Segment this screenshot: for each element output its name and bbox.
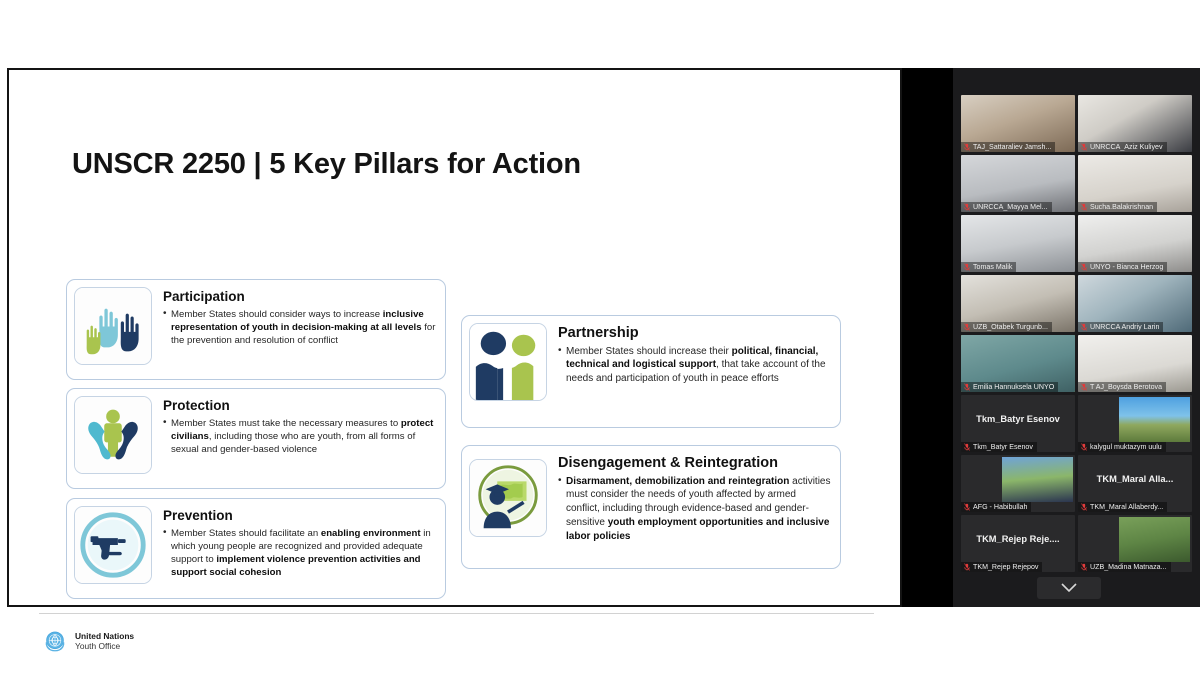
participant-name-label: T AJ_Boysda Berotova [1078,382,1166,392]
participant-name-text: TKM_Maral Allaberdy... [1090,503,1163,511]
participant-tile[interactable]: AFG - Habibullah [961,455,1075,512]
microphone-muted-icon [1081,383,1087,391]
participant-tile[interactable]: T AJ_Boysda Berotova [1078,335,1192,392]
participant-tile[interactable]: Tomas Malik [961,215,1075,272]
un-youth-office-logo: United Nations Youth Office [42,628,134,654]
pillar-text: Member States should increase their poli… [558,345,831,386]
participant-name-label: UZB_Otabek Turgunb... [961,322,1052,332]
zoom-meeting-window: UNSCR 2250 | 5 Key Pillars for Action [0,0,1200,695]
chevron-down-icon [1061,583,1077,593]
participant-name-text: UNRCCA Andriy Larin [1090,323,1159,331]
pillar-text: Member States should facilitate an enabl… [163,527,436,580]
participant-name-label: TKM_Rejep Rejepov [961,562,1042,572]
participant-tile[interactable]: kalygul muktazym uulu [1078,395,1192,452]
presentation-slide: UNSCR 2250 | 5 Key Pillars for Action [9,70,900,605]
microphone-muted-icon [1081,143,1087,151]
protecting-hands-icon [74,396,152,474]
participant-name-text: Tkm_Batyr Esenov [973,443,1033,451]
participant-name-text: T AJ_Boysda Berotova [1090,383,1162,391]
participant-name-text: UZB_Otabek Turgunb... [973,323,1048,331]
pillar-heading: Partnership [558,325,831,342]
un-emblem-icon [42,628,68,654]
microphone-muted-icon [1081,203,1087,211]
participant-name-label: Tkm_Batyr Esenov [961,442,1037,452]
participant-name-text: UNRCCA_Aziz Kuliyev [1090,143,1163,151]
participant-name-text: UZB_Madina Matnaza... [1090,563,1167,571]
microphone-muted-icon [964,203,970,211]
participant-name-label: Tomas Malik [961,262,1016,272]
microphone-muted-icon [1081,443,1087,451]
participant-name-text: Tomas Malik [973,263,1012,271]
two-figures-icon [469,323,547,401]
pillar-heading: Participation [163,289,436,305]
participant-name-label: UNYO - Bianca Herzog [1078,262,1167,272]
raised-hands-icon [74,287,152,365]
participant-gallery[interactable]: TAJ_Sattaraliev Jamsh...UNRCCA_Aziz Kuli… [953,68,1200,607]
microphone-muted-icon [964,563,970,571]
microphone-muted-icon [964,443,970,451]
participant-name-label: Emilia Hannuksela UNYO [961,382,1058,392]
participant-tile[interactable]: UNRCCA Andriy Larin [1078,275,1192,332]
participant-tile[interactable]: TKM_Rejep Reje....TKM_Rejep Rejepov [961,515,1075,572]
org-name-line2: Youth Office [75,641,134,651]
pillar-heading: Prevention [163,508,436,524]
participant-name-label: UNRCCA Andriy Larin [1078,322,1163,332]
microphone-muted-icon [964,503,970,511]
pillar-card-partnership: Partnership Member States should increas… [461,315,841,428]
microphone-muted-icon [1081,323,1087,331]
participant-tile[interactable]: Tkm_Batyr EsenovTkm_Batyr Esenov [961,395,1075,452]
participant-name-label: AFG - Habibullah [961,502,1031,512]
participant-tile[interactable]: UNRCCA_Mayya Mel... [961,155,1075,212]
microphone-muted-icon [964,383,970,391]
participant-name-label: TKM_Maral Allaberdy... [1078,502,1167,512]
microphone-muted-icon [1081,503,1087,511]
participant-tile[interactable]: UNYO - Bianca Herzog [1078,215,1192,272]
participant-name-label: UZB_Madina Matnaza... [1078,562,1171,572]
scroll-down-button[interactable] [1037,577,1101,599]
participant-name-text: Sucha.Balakrishnan [1090,203,1153,211]
microphone-muted-icon [964,143,970,151]
participant-name-label: Sucha.Balakrishnan [1078,202,1157,212]
participant-tile[interactable]: TKM_Maral Alla...TKM_Maral Allaberdy... [1078,455,1192,512]
pillar-heading: Disengagement & Reintegration [558,455,831,472]
participant-name-text: UNRCCA_Mayya Mel... [973,203,1048,211]
microphone-muted-icon [964,263,970,271]
pillar-card-protection: Protection Member States must take the n… [66,388,446,489]
shared-screen-region[interactable]: UNSCR 2250 | 5 Key Pillars for Action [7,68,902,607]
participant-name-text: TAJ_Sattaraliev Jamsh... [973,143,1051,151]
participant-name-text: kalygul muktazym uulu [1090,443,1162,451]
participant-name-label: TAJ_Sattaraliev Jamsh... [961,142,1055,152]
participant-name-text: TKM_Rejep Rejepov [973,563,1038,571]
pillar-card-participation: Participation Member States should consi… [66,279,446,380]
microphone-muted-icon [1081,563,1087,571]
pillar-card-disengagement: Disengagement & Reintegration Disarmamen… [461,445,841,569]
participant-name-text: AFG - Habibullah [973,503,1027,511]
participant-name-label: kalygul muktazym uulu [1078,442,1166,452]
participant-video [1119,517,1190,561]
participant-video [1002,457,1073,501]
pillar-heading: Protection [163,398,436,414]
participant-name-label: UNRCCA_Mayya Mel... [961,202,1052,212]
participant-video [1119,397,1190,441]
participant-tile[interactable]: UZB_Madina Matnaza... [1078,515,1192,572]
gallery-scrollbar[interactable] [938,68,943,607]
microphone-muted-icon [964,323,970,331]
graduate-teacher-icon [469,459,547,537]
participant-tile[interactable]: UNRCCA_Aziz Kuliyev [1078,95,1192,152]
participant-name-text: Emilia Hannuksela UNYO [973,383,1054,391]
handgun-circle-icon [74,506,152,584]
microphone-muted-icon [1081,263,1087,271]
org-name-line1: United Nations [75,631,134,641]
participant-tile-grid: TAJ_Sattaraliev Jamsh...UNRCCA_Aziz Kuli… [961,95,1192,572]
pillar-card-prevention: Prevention Member States should facilita… [66,498,446,599]
participant-name-label: UNRCCA_Aziz Kuliyev [1078,142,1167,152]
page-title: UNSCR 2250 | 5 Key Pillars for Action [72,148,581,181]
participant-tile[interactable]: Sucha.Balakrishnan [1078,155,1192,212]
participant-tile[interactable]: TAJ_Sattaraliev Jamsh... [961,95,1075,152]
participant-name-text: UNYO - Bianca Herzog [1090,263,1163,271]
participant-tile[interactable]: Emilia Hannuksela UNYO [961,335,1075,392]
pillar-text: Disarmament, demobilization and reintegr… [558,475,831,544]
pillar-text: Member States must take the necessary me… [163,417,436,457]
participant-tile[interactable]: UZB_Otabek Turgunb... [961,275,1075,332]
pillar-text: Member States should consider ways to in… [163,308,436,348]
footer-divider [39,613,874,614]
